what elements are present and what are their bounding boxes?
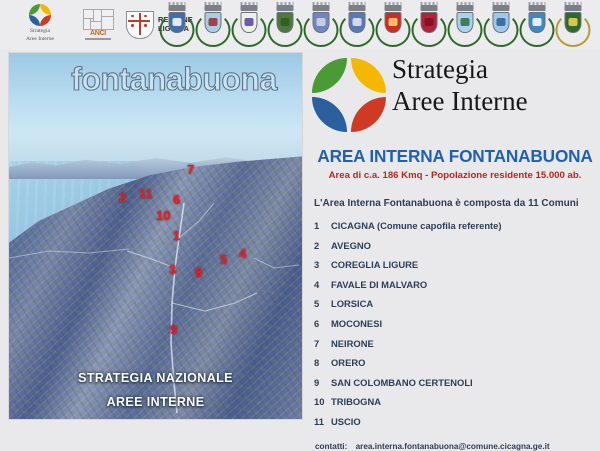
comune-row: 2AVEGNO	[314, 240, 598, 260]
comune-name: MOCONESI	[331, 318, 382, 329]
map-marker-3: 3	[169, 263, 176, 276]
map-marker-8: 8	[195, 266, 202, 279]
brand-line1: Strategia	[392, 54, 598, 86]
comune-number: 5	[314, 298, 331, 309]
comune-number: 3	[314, 259, 331, 270]
brand-petal-yellow	[351, 58, 386, 93]
comune-row: 8ORERO	[314, 357, 598, 377]
comune-number: 11	[314, 416, 331, 427]
map-rivers	[9, 53, 302, 419]
comune-row: 5LORSICA	[314, 298, 598, 318]
crest-regione-icon	[556, 2, 590, 48]
comune-number: 9	[314, 377, 331, 388]
liguria-shield-icon	[126, 11, 154, 39]
pinwheel-petal-blue	[29, 15, 40, 26]
map-marker-6: 6	[173, 193, 180, 206]
map-marker-5: 5	[220, 253, 227, 266]
comuni-list-title: L'Area Interna Fontanabuona è composta d…	[314, 198, 598, 209]
crest-cicagna-icon	[160, 2, 194, 48]
map-caption: STRATEGIA NAZIONALE AREE INTERNE	[9, 371, 302, 409]
logo-sai-line2: Aree Interne	[26, 36, 54, 44]
header-logo-strip: Strategia Aree Interne ANCI	[0, 0, 600, 50]
map-caption-line2: AREE INTERNE	[9, 395, 302, 409]
comuni-list: 1CICAGNA (Comune capofila referente)2AVE…	[314, 220, 598, 436]
logo-strategia-aree-interne: Strategia Aree Interne	[14, 4, 66, 48]
logo-sai-line1: Strategia	[26, 28, 54, 36]
comune-name: COREGLIA LIGURE	[331, 259, 418, 270]
fontanabuona-map-image: fontanabuona 7112610145389 STRATEGIA NAZ…	[8, 52, 303, 420]
crest-moconesi-icon	[340, 2, 374, 48]
comune-row: 3COREGLIA LIGURE	[314, 259, 598, 279]
comune-row: 10TRIBOGNA	[314, 396, 598, 416]
comune-name: ORERO	[331, 357, 365, 368]
brand-line2: Aree Interne	[392, 86, 598, 118]
comune-number: 10	[314, 396, 331, 407]
brand-petal-blue	[312, 97, 347, 132]
comune-name: USCIO	[331, 416, 361, 427]
comune-row: 11USCIO	[314, 416, 598, 436]
comune-number: 2	[314, 240, 331, 251]
comune-name: AVEGNO	[331, 240, 371, 251]
logo-anci: ANCI	[80, 9, 116, 41]
crest-avegno-icon	[196, 2, 230, 48]
map-marker-9: 9	[170, 323, 177, 336]
anci-grid-icon	[83, 9, 113, 29]
brand-row: Strategia Aree Interne	[312, 56, 598, 140]
comune-name: CICAGNA (Comune capofila referente)	[331, 220, 502, 231]
pinwheel-icon	[29, 4, 51, 26]
poster-root: Strategia Aree Interne ANCI	[0, 0, 600, 424]
map-marker-10: 10	[156, 209, 170, 222]
brand-petal-green	[312, 58, 347, 93]
comune-number: 4	[314, 279, 331, 290]
comune-name: FAVALE DI MALVARO	[331, 279, 427, 290]
map-marker-11: 11	[139, 187, 153, 200]
comune-name: NEIRONE	[331, 338, 374, 349]
comune-name: SAN COLOMBANO CERTENOLI	[331, 377, 473, 388]
comune-number: 1	[314, 220, 331, 231]
map-poster-title: fontanabuona	[59, 61, 289, 98]
crest-uscio-icon	[520, 2, 554, 48]
anci-label: ANCI	[80, 30, 116, 37]
info-panel: Strategia Aree Interne AREA INTERNA FONT…	[308, 52, 600, 424]
comune-name: TRIBOGNA	[331, 396, 381, 407]
map-marker-4: 4	[239, 247, 246, 260]
crest-lorsica-icon	[304, 2, 338, 48]
pinwheel-petal-yellow	[40, 4, 51, 15]
comune-number: 6	[314, 318, 331, 329]
comune-row: 7NEIRONE	[314, 338, 598, 358]
contact-line: contatti: area.interna.fontanabuona@comu…	[315, 442, 599, 451]
brand-wordmark: Strategia Aree Interne	[392, 54, 598, 118]
comune-row: 4FAVALE DI MALVARO	[314, 279, 598, 299]
panel-main-title: AREA INTERNA FONTANABUONA	[312, 146, 598, 167]
map-caption-line1: STRATEGIA NAZIONALE	[9, 371, 302, 385]
panel-subtitle: Area di c.a. 186 Kmq - Popolazione resid…	[312, 170, 598, 181]
comune-number: 7	[314, 338, 331, 349]
comune-row: 6MOCONESI	[314, 318, 598, 338]
comune-name: LORSICA	[331, 298, 373, 309]
crest-san-colombano-certenoli-icon	[448, 2, 482, 48]
crest-orero-icon	[412, 2, 446, 48]
map-marker-2: 2	[119, 191, 126, 204]
comune-row: 9SAN COLOMBANO CERTENOLI	[314, 377, 598, 397]
logo-sai-caption: Strategia Aree Interne	[26, 28, 54, 43]
map-marker-7: 7	[187, 163, 194, 176]
comune-row: 1CICAGNA (Comune capofila referente)	[314, 220, 598, 240]
crest-favale-di-malvaro-icon	[268, 2, 302, 48]
brand-pinwheel-icon	[312, 58, 386, 132]
comune-number: 8	[314, 357, 331, 368]
contact-email[interactable]: area.interna.fontanabuona@comune.cicagna…	[356, 442, 550, 451]
municipal-crests-row	[160, 1, 590, 49]
pinwheel-petal-red	[40, 15, 51, 26]
contact-label: contatti:	[315, 442, 347, 451]
crest-coreglia-ligure-icon	[232, 2, 266, 48]
crest-tribogna-icon	[484, 2, 518, 48]
map-marker-1: 1	[173, 229, 180, 242]
brand-petal-red	[351, 97, 386, 132]
anci-underline	[85, 38, 111, 40]
crest-neirone-icon	[376, 2, 410, 48]
pinwheel-petal-green	[29, 4, 40, 15]
